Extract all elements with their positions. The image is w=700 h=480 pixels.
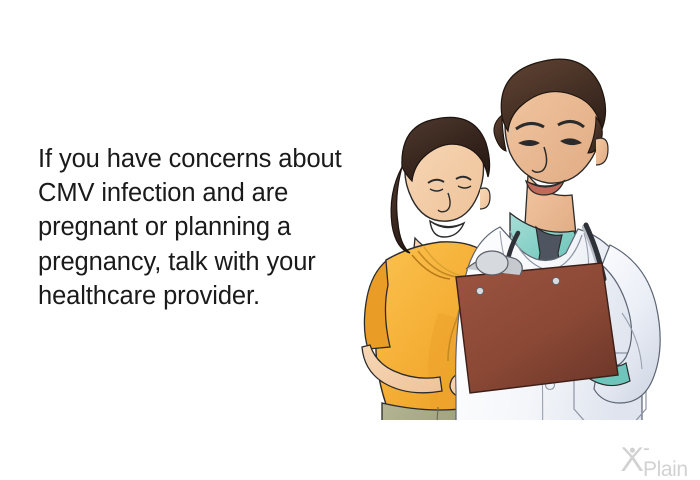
slide-canvas: If you have concerns about CMV infection… <box>0 0 700 480</box>
medical-illustration <box>360 55 700 420</box>
clipboard-rivet <box>552 277 559 284</box>
x-plain-person-icon <box>620 446 644 472</box>
clipboard-rivet <box>476 287 483 294</box>
brand-logo: -Plain <box>620 444 694 474</box>
page-message-text: If you have concerns about CMV infection… <box>38 142 368 313</box>
brand-wordmark: -Plain <box>643 438 694 480</box>
